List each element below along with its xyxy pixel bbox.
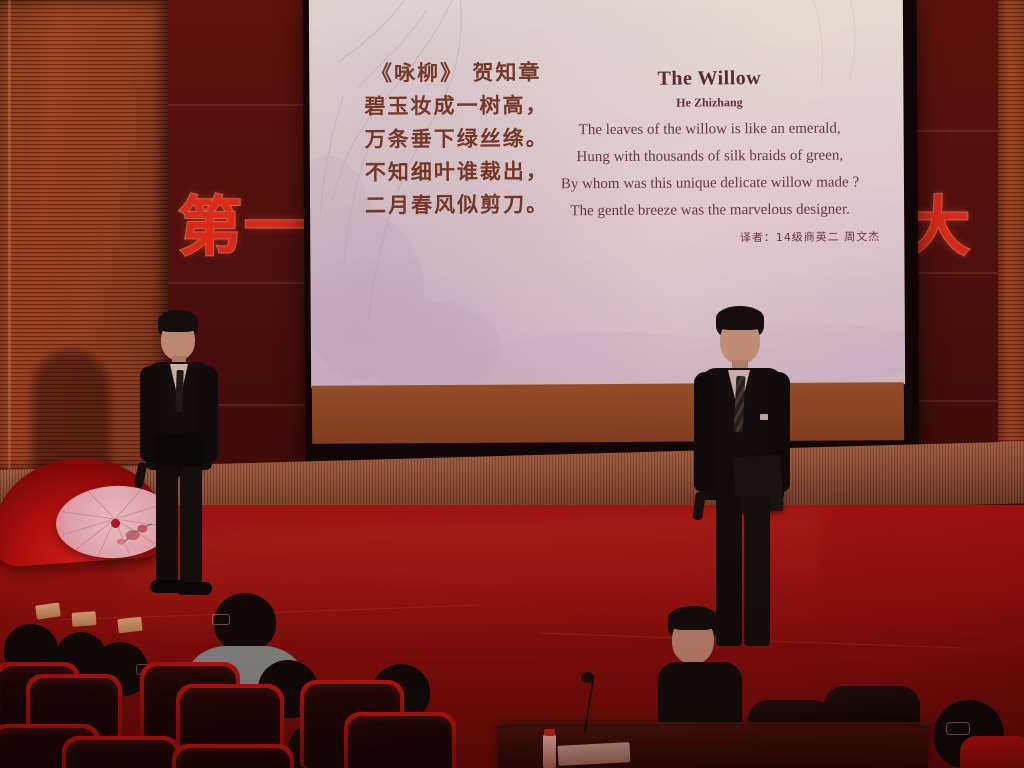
theater-seat-cushion[interactable] [176, 748, 290, 768]
english-poem-title: The Willow [523, 66, 895, 91]
judge-papers [558, 742, 631, 766]
auditorium-photo: 第一 大 [0, 0, 1024, 768]
score-card [72, 611, 97, 627]
eyeglasses-icon [946, 722, 970, 735]
english-line-3: By whom was this unique delicate willow … [524, 170, 896, 197]
handheld-microphone-right [692, 491, 706, 520]
english-line-1: The leaves of the willow is like an emer… [524, 116, 896, 143]
wood-wall-panel-right [998, 0, 1024, 498]
english-poem-author: He Zhizhang [523, 94, 895, 111]
table-microphone-head[interactable] [581, 672, 594, 683]
score-card [117, 617, 142, 633]
translator-credit: 译者：14级商英二 周文杰 [524, 228, 896, 246]
score-card [35, 602, 61, 619]
eyeglasses-icon [212, 614, 230, 625]
water-bottle-cap [544, 729, 555, 736]
projection-screen-surface: 《咏柳》 贺知章 碧玉妆成一树高， 万条垂下绿丝绦。 不知细叶谁裁出， 二月春风… [309, 0, 905, 388]
theater-seat[interactable] [960, 736, 1024, 768]
water-bottle [543, 734, 556, 768]
presenter-left [136, 310, 222, 610]
english-line-2: Hung with thousands of silk braids of gr… [524, 143, 896, 170]
handheld-microphone [133, 461, 147, 488]
english-line-4: The gentle breeze was the marvelous desi… [524, 197, 896, 224]
slide-english-translation: The Willow He Zhizhang The leaves of the… [523, 66, 896, 246]
theater-seat-cushion[interactable] [66, 740, 176, 768]
theater-seat-cushion[interactable] [348, 716, 452, 768]
banner-text-left: 第一 [178, 176, 310, 268]
projection-screen-lower-band [312, 382, 904, 444]
